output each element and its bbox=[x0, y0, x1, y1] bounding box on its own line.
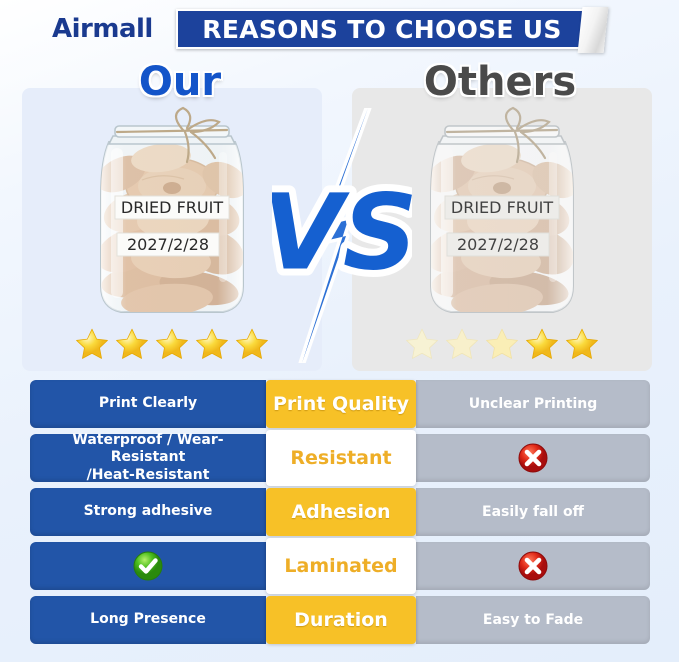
table-row: Print Clearly Print Quality Unclear Prin… bbox=[30, 380, 650, 428]
headline-text: REASONS TO CHOOSE US bbox=[202, 15, 561, 44]
cell-ours-line1: Waterproof / Wear-Resistant/Heat-Resista… bbox=[36, 432, 260, 483]
product-image-theirs: DRIED FRUIT 2027/2/28 bbox=[417, 100, 587, 325]
table-row: Long Presence Duration Easy to Fade bbox=[30, 596, 650, 644]
cross-mark-icon bbox=[517, 550, 549, 582]
banner-page-curl-icon bbox=[578, 7, 609, 53]
comparison-table: Print Clearly Print Quality Unclear Prin… bbox=[0, 380, 679, 650]
cell-theirs: Easily fall off bbox=[416, 488, 650, 536]
svg-text:2027/2/28: 2027/2/28 bbox=[127, 235, 209, 254]
cell-theirs bbox=[416, 434, 650, 482]
cell-ours: Print Clearly bbox=[30, 380, 266, 428]
cell-theirs: Unclear Printing bbox=[416, 380, 650, 428]
product-panel-ours: DRIED FRUIT 2027/2/28 bbox=[22, 88, 322, 371]
star-icon bbox=[115, 327, 149, 361]
star-icon bbox=[75, 327, 109, 361]
check-mark-icon bbox=[132, 550, 164, 582]
star-rating-ours bbox=[22, 327, 322, 361]
star-icon-faded bbox=[445, 327, 479, 361]
headline-banner: REASONS TO CHOOSE US bbox=[176, 9, 588, 49]
star-icon-faded bbox=[485, 327, 519, 361]
cell-feature: Adhesion bbox=[266, 488, 416, 536]
star-icon bbox=[195, 327, 229, 361]
star-icon bbox=[525, 327, 559, 361]
cell-feature: Resistant bbox=[266, 430, 416, 486]
column-title-ours: Our bbox=[30, 62, 330, 102]
column-title-theirs: Others bbox=[350, 62, 650, 102]
cell-theirs: Easy to Fade bbox=[416, 596, 650, 644]
svg-text:DRIED FRUIT: DRIED FRUIT bbox=[121, 198, 223, 217]
product-image-ours: DRIED FRUIT 2027/2/28 bbox=[87, 100, 257, 325]
product-panel-theirs: DRIED FRUIT 2027/2/28 bbox=[352, 88, 652, 371]
star-icon-faded bbox=[405, 327, 439, 361]
cell-feature: Print Quality bbox=[266, 380, 416, 428]
svg-text:DRIED FRUIT: DRIED FRUIT bbox=[451, 198, 553, 217]
cell-ours: Waterproof / Wear-Resistant/Heat-Resista… bbox=[30, 434, 266, 482]
cross-mark-icon bbox=[517, 442, 549, 474]
star-icon bbox=[565, 327, 599, 361]
table-row: Strong adhesive Adhesion Easily fall off bbox=[30, 488, 650, 536]
svg-text:2027/2/28: 2027/2/28 bbox=[457, 235, 539, 254]
page-header: Airmall REASONS TO CHOOSE US bbox=[0, 0, 679, 58]
star-rating-theirs bbox=[352, 327, 652, 361]
cell-theirs bbox=[416, 542, 650, 590]
table-row: Laminated bbox=[30, 542, 650, 590]
star-icon bbox=[235, 327, 269, 361]
cell-ours: Strong adhesive bbox=[30, 488, 266, 536]
cell-feature: Duration bbox=[266, 596, 416, 644]
cell-ours bbox=[30, 542, 266, 590]
cell-feature: Laminated bbox=[266, 538, 416, 594]
star-icon bbox=[155, 327, 189, 361]
table-row: Waterproof / Wear-Resistant/Heat-Resista… bbox=[30, 434, 650, 482]
cell-ours: Long Presence bbox=[30, 596, 266, 644]
brand-logo: Airmall bbox=[52, 14, 153, 44]
